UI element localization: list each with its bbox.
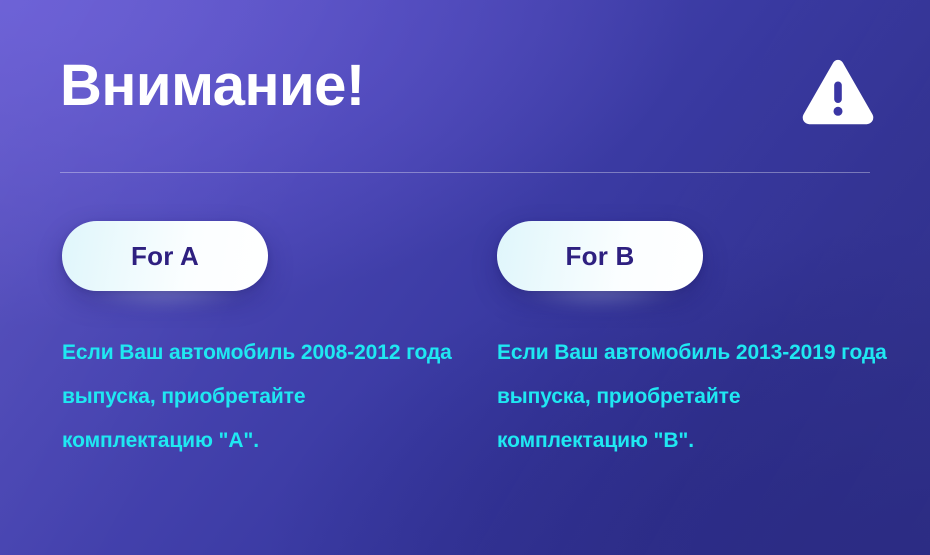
- for-a-button[interactable]: For A: [62, 221, 268, 291]
- for-a-button-label: For A: [131, 241, 199, 272]
- page-title: Внимание!: [60, 57, 365, 115]
- option-column-a: For A Если Ваш автомобиль 2008-2012 года…: [62, 221, 462, 291]
- notice-banner: Внимание! For A Если Ваш автомобиль 2008…: [0, 0, 930, 555]
- for-b-button[interactable]: For B: [497, 221, 703, 291]
- header-divider: [60, 172, 870, 173]
- option-a-description: Если Ваш автомобиль 2008-2012 года выпус…: [62, 331, 454, 463]
- warning-triangle-icon: [801, 58, 875, 128]
- for-b-button-label: For B: [566, 241, 635, 272]
- option-column-b: For B Если Ваш автомобиль 2013-2019 года…: [497, 221, 897, 291]
- pill-wrap-a: For A: [62, 221, 268, 291]
- option-b-description: Если Ваш автомобиль 2013-2019 года выпус…: [497, 331, 889, 463]
- pill-wrap-b: For B: [497, 221, 703, 291]
